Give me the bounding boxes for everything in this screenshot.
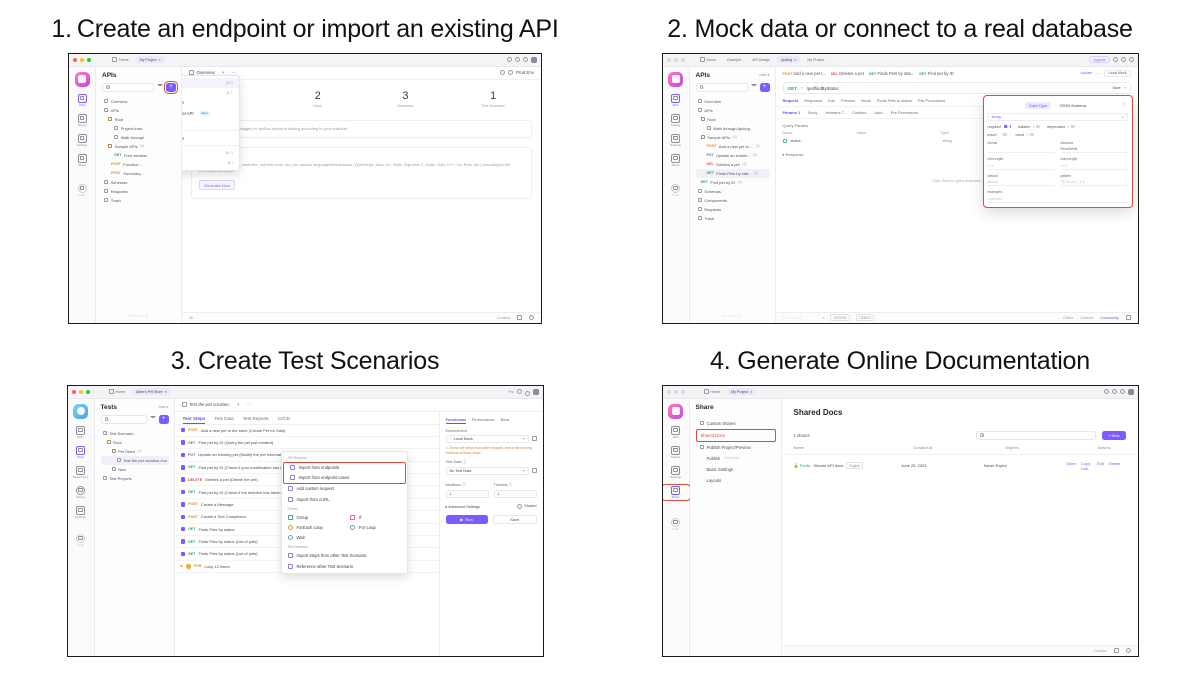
p2-body: APIs Testing Settings Share Invite APIs … [663,67,1138,323]
p1-status-right: Cookies [497,315,534,320]
close-icon[interactable]: × [1123,101,1125,106]
online-status[interactable]: Online [1063,316,1073,320]
trash-icon [698,216,702,220]
menu-marked-group: Import from endpoints Import from endpoi… [283,462,406,484]
testdata-select[interactable]: No Test Data▾ [446,467,529,476]
tree-item-components[interactable]: Components· [696,196,770,205]
examples-input[interactable]: examples [988,196,1128,203]
default-input[interactable]: default [988,179,1055,186]
panel-4-number: 4. [710,347,730,375]
behavior-select[interactable]: Read/Write [1061,146,1128,153]
tab-request[interactable]: Request [783,98,799,103]
toggle-deprecated[interactable]: deprecated [1047,125,1075,129]
menu-item-if[interactable]: If [344,512,407,522]
community-button[interactable]: Community [1100,316,1118,320]
req-tab-finds-pets[interactable]: GET Finds Pets by stat... [869,71,914,76]
tree-item-project-intro[interactable]: Project-intro [102,124,176,133]
tree-item-apis[interactable]: APIs· [102,106,176,115]
tree-item-sample-apis[interactable]: Sample APIs(4) [696,133,770,142]
tree-item-function[interactable]: POSTFunction ... [102,160,176,169]
expires: Never Expire [984,463,1067,468]
rail-item-history[interactable]: History [68,486,94,499]
tab-performance[interactable]: Performance [472,417,495,425]
menu-item-import-steps[interactable]: Import steps from other Test Scenario [282,551,407,561]
sync-icon[interactable] [507,57,512,62]
bell-icon[interactable] [1129,57,1134,62]
overview-icon [698,99,702,103]
p1-statusbar: 4K Cookies [182,312,541,323]
home-icon [700,57,705,62]
menu-item-import-curl[interactable]: Import cURL ⌘ I [182,158,239,168]
generate-now-button[interactable]: Generate Now [199,180,235,190]
rail-item-settings[interactable]: Settings [69,134,95,147]
filter-icon[interactable] [751,84,757,90]
local-mock-selector[interactable]: Local Mock [1104,70,1130,78]
tree-item-add-pet[interactable]: POSTAdd a new pet to ...(1) [696,142,770,151]
request-icon [104,189,108,193]
step-icon [181,453,186,458]
tab-json-schema[interactable]: JSON Schema [1055,102,1089,109]
panel-4-screenshot: Home My Project× APIs Testing Settings S… [662,385,1139,657]
rail-item-share-docs[interactable]: Share Docs [68,466,94,479]
home-icon [112,57,117,62]
publish-icon [700,445,704,449]
iterations-input[interactable]: 1 [446,490,489,498]
add-tab-button[interactable]: + [237,402,240,407]
more-button[interactable]: ··· [1096,71,1100,76]
window-maximize-dot[interactable] [87,58,91,62]
subtab-pre-processors[interactable]: Pre Processors [891,110,918,115]
notification-icon[interactable] [517,315,522,320]
rail-item-apis[interactable]: APIs [663,94,689,107]
url-input[interactable]: /pet/findByStatus [807,86,839,91]
tab-functional[interactable]: Functional [446,417,466,425]
debug-mode-button[interactable]: DEBUG [856,314,875,321]
collapse-button[interactable]: « [822,316,824,320]
req-tab-delete-pet[interactable]: DEL Deletes a pet [831,71,864,76]
beta-badge: Beta [200,111,210,116]
search-icon [106,85,110,89]
menu-item-add-custom-request[interactable]: Add custom request [282,484,407,494]
sidebar-item-publish-project[interactable]: Publish Project/Preview [696,442,776,453]
p2-url-bar: GET ▾ /pet/findByStatus Save ▾ [783,82,1131,94]
branch-selector[interactable]: main ▾ [158,405,168,409]
window-minimize-dot[interactable] [80,58,84,62]
table-row[interactable]: 🔓 Public Shared API docs English June 25… [782,455,1138,477]
p4-project-tab[interactable]: My Project× [727,388,756,395]
gear-icon[interactable] [1121,57,1126,62]
menu-item-group[interactable]: Group [282,512,345,522]
design-mode-button[interactable]: DESIGN [830,314,849,321]
home-icon [704,389,709,394]
p3-store-tab[interactable]: Allen's Pet Store× [132,388,171,395]
tree-item-test-scenario[interactable]: Test Scenario· [101,429,169,438]
menu-item-new-schema[interactable]: New Schema [182,118,239,128]
trash-icon [104,198,108,202]
minlength-input[interactable]: >= 0 [988,163,1055,170]
share-icon [671,154,680,163]
save-button[interactable]: Save [1112,86,1120,90]
close-icon[interactable]: × [794,58,796,62]
bell-icon[interactable] [523,57,528,62]
menu-item-import-from-endpoints[interactable]: Import from endpoints [284,463,405,473]
p2-statusbar: APIDOG « DESIGN DEBUG Online Cookies Com… [776,312,1138,323]
rail-item-testing[interactable]: Testing [663,446,689,459]
p1-rail: APIs Testing Settings Share [69,67,96,323]
tab-cicd[interactable]: CI/CD [278,416,291,421]
window-close-dot[interactable] [73,58,77,62]
apis-icon [671,94,680,103]
tab-test-data[interactable]: Test Data [214,416,233,421]
rail-item-invite[interactable]: Invite [69,184,95,197]
p3-home-tab[interactable]: Home [105,388,130,396]
step-icon [181,465,186,470]
branch-selector[interactable]: main ▾ [759,73,769,77]
p4-toolbar: 1 shares + New [782,417,1138,440]
p4-rail: APIs Testing Settings Share Invite [663,399,690,656]
request-icon [698,207,702,211]
sync-icon[interactable] [1113,57,1118,62]
tree-item-walk-through-apidog[interactable]: Walk through Apidog [696,124,770,133]
menu-item-wait[interactable]: Wait [282,533,407,543]
app-logo [73,404,88,419]
rail-item-apis[interactable]: APIs [69,94,95,107]
advanced-settings-toggle[interactable]: ▸ Advanced Settings [446,504,480,509]
folder-icon [107,440,111,444]
sidebar-item-publish[interactable]: PublishPublished [696,453,776,464]
tree-item-requests[interactable]: Requests· [102,187,176,196]
filter-icon[interactable] [150,416,156,422]
tab-info[interactable]: Info [828,98,835,103]
search-icon [105,417,109,421]
p1-project-tab[interactable]: My Project × [136,56,165,63]
subtab-params[interactable]: Params 1 [783,110,801,115]
menu-item-import[interactable]: Import ⌘ O [182,148,239,158]
menu-item-import-from-curl[interactable]: Import from cURL [282,494,407,504]
menu-item-new-api[interactable]: New API ⌘ N [182,78,239,88]
p2-titlebar-actions: Upgrade [1089,56,1133,63]
filter-icon[interactable] [157,84,163,90]
p1-new-menu: New API ⌘ N New Request ⌘ T New Markdown [182,75,240,172]
invite-icon [671,184,680,193]
panel-2-heading: Mock data or connect to a real database [694,15,1132,43]
menu-item-new-request[interactable]: New Request ⌘ T [182,88,239,98]
language-tag: English [846,462,862,469]
tree-item-apis[interactable]: APIs· [696,106,770,115]
p2-tab-example[interactable]: Example [723,56,745,63]
tree-item-new[interactable]: New [101,465,169,474]
p3-sidebar: Tests main ▾ + Test Scenario· Root Pet S… [95,399,175,656]
p3-body: APIs Tests Share Docs History Settings I… [68,399,543,656]
panel-3-heading: Create Test Scenarios [198,347,439,375]
endpoint-cases-icon [290,475,295,480]
pro-badge[interactable]: Pro [509,390,514,394]
field-behavior: behaviorRead/Write [1061,141,1128,154]
menu-item-new-api-folder[interactable]: New API Folder [182,133,239,143]
help-icon[interactable] [1126,648,1131,653]
p3-titlebar: Home Allen's Pet Store× Pro 20 [68,386,543,399]
menu-item-new-websocket-api[interactable]: New WebSocket API Beta [182,108,239,118]
p1-sync-card: API data in OpenAPI(Swagger) or apiDoc f… [191,120,532,138]
http-method[interactable]: GET [788,86,797,91]
new-share-button[interactable]: + New [1102,431,1125,440]
tree-item-free-weather[interactable]: GETFree weather [102,151,176,160]
step-icon [181,539,186,544]
p1-main: Overview + ··· Prod Env 2Cases 2Docs 3Sc… [182,67,541,323]
tab-test-reports[interactable]: Test Reports [243,416,269,421]
cookies-button[interactable]: Cookies [497,316,510,320]
tree-item-requests[interactable]: Requests· [696,205,770,214]
menu-group-others: Others [282,504,407,512]
testdata-label: Test Data ⓘ [446,460,537,465]
rail-item-invite[interactable]: Invite [68,534,94,547]
step-icon [181,515,186,520]
rail-item-tests[interactable]: Tests [68,446,94,459]
avatar [500,70,505,75]
schema-icon [104,180,108,184]
tree-item-test-pet-creation[interactable]: Test the pet creation,/mo [101,456,169,465]
sidebar-item-shared-docs[interactable]: Shared Docs [696,429,776,442]
gear-icon[interactable] [515,57,520,62]
toggle-const[interactable]: const [1016,133,1035,137]
step-icon [181,527,186,532]
delete-action[interactable]: Delete [1109,461,1121,471]
popup-tabs: Data Type JSON Schema × [988,100,1128,113]
panel-1-title: 1.Create an endpoint or import an existi… [0,16,610,44]
notification-icon[interactable] [1126,315,1131,320]
panel-3-screenshot: Home Allen's Pet Store× Pro 20 APIs Test [67,385,544,657]
notification-icon[interactable] [1114,648,1119,653]
search-input[interactable] [696,83,748,92]
sync-icon[interactable] [517,389,522,394]
visibility-badge: 🔓 Public [794,463,811,468]
menu-item-reference-scenario[interactable]: Reference other Test Scenario [282,561,407,571]
help-icon[interactable] [529,315,534,320]
toggle-enum[interactable]: enum [988,133,1007,137]
menu-item-new-markdown[interactable]: New Markdown [182,98,239,108]
p2-tab-api-design[interactable]: API Design [748,56,774,63]
p1-home-tab[interactable]: Home [108,56,133,64]
testdata-manage-icon[interactable] [532,468,537,473]
panel-2-number: 2. [667,15,687,43]
close-icon[interactable]: × [159,58,161,62]
toggle-required[interactable]: required [988,125,1011,129]
slide-root: 1.Create an endpoint or import an existi… [0,0,1200,675]
p2-request-tabs: POST Add a new pet t... DEL Deletes a pe… [776,67,1138,81]
tree-item-overview[interactable]: Overview [696,97,770,106]
more-button[interactable]: ··· [246,402,250,407]
tab-finds-pets[interactable]: Finds Pets to status [877,98,912,103]
panel-3-title: 3. Create Test Scenarios [0,348,610,376]
tree-item-test-reports[interactable]: Test Reports [101,474,169,483]
tab-pre-processors[interactable]: Pre Processors [918,98,945,103]
menu-item-foreach-loop[interactable]: ForEach Loop [282,522,345,532]
tree-item-summary[interactable]: POSTSummary... [102,169,176,178]
p1-env-group: Prod Env [500,70,534,75]
p2-sidebar: APIs main ▾ + Overview APIs· Root Walk t… [690,67,776,323]
step-icon [181,552,186,557]
toggle-nullable[interactable]: nullable [1018,125,1040,129]
rail-item-share[interactable]: Share [663,486,689,499]
loop-icon [186,564,191,569]
shared-checkbox[interactable]: Shared [517,504,536,509]
tree-item-schemas[interactable]: Schemas· [696,187,770,196]
tab-test-steps[interactable]: Test Steps [183,416,206,421]
p2-rail: APIs Testing Settings Share Invite [663,67,690,323]
req-tab-add-pet[interactable]: POST Add a new pet t... [783,71,826,76]
sidebar-item-layouts[interactable]: Layouts [696,475,776,486]
testing-icon [671,446,680,455]
settings-icon [78,134,87,143]
tree-item-sample-apis[interactable]: Sample APIs(3) [102,142,176,151]
sync-icon[interactable] [1104,389,1109,394]
settings-icon [671,466,680,475]
rail-item-share[interactable]: Share [663,154,689,167]
tree-item-finds-pets-by-status[interactable]: GETFinds Pets by stat...(2) [696,169,770,178]
run-save-row: ▶ Run Save [446,515,537,524]
p2-tab-my-project[interactable]: My Project [803,56,828,63]
subtab-auth[interactable]: Auth [874,110,882,115]
maxlength-input[interactable]: <= 0 [1061,163,1128,170]
popup-row-format: format behaviorRead/Write [988,141,1128,154]
popup-toggles-row-2: enum const [988,133,1128,137]
rail-item-settings[interactable]: Settings [663,134,689,147]
run-button[interactable]: ▶ Run [446,515,488,524]
tree-item-overview[interactable]: Overview [102,97,176,106]
subtab-body[interactable]: Body [808,110,817,115]
subtab-headers[interactable]: Headers 7 [825,110,843,115]
tab-preview[interactable]: Preview [841,98,855,103]
tree-item-trash[interactable]: Trash [102,196,176,205]
rail-item-share[interactable]: Share [69,154,95,167]
search-input[interactable] [102,83,154,92]
type-selector[interactable]: string▾ [988,113,1128,121]
tree-item-walk-through[interactable]: Walk through [102,133,176,142]
settings-icon [76,506,85,515]
p3-main-toolbar: Test the pet creation, + ··· [175,399,543,412]
rail-item-testing[interactable]: Testing [663,114,689,127]
apis-icon [698,108,702,112]
sidebar-item-basic-settings[interactable]: Basic Settings [696,464,776,475]
environment-selector[interactable]: Prod Env [516,70,534,75]
rail-item-settings[interactable]: Settings [68,506,94,519]
tree-item-update-pet[interactable]: PUTUpdate an existin...(2) [696,151,770,160]
panel-4-title: 4. Generate Online Documentation [600,348,1200,376]
new-item-button[interactable]: + [159,415,169,424]
avatar[interactable] [531,57,537,63]
tree-item-pet-store[interactable]: Pet Store(1) [101,447,169,456]
tree-item-root[interactable]: Root [102,115,176,124]
p2-tab-apidog[interactable]: Apidog× [777,56,800,63]
p2-titlebar: Home Example API Design Apidog× My Proje… [663,54,1138,67]
tree-item-find-pet-by-id[interactable]: GETFind pet by ID(4) [696,178,770,187]
close-icon[interactable]: × [750,390,752,394]
avatar[interactable] [533,389,539,395]
testing-icon [671,114,680,123]
update-button[interactable]: Update [1081,71,1093,75]
panel-2-screenshot: Home Example API Design Apidog× My Proje… [662,53,1139,324]
panel-2: 2. Mock data or connect to a real databa… [600,16,1200,324]
rail-item-settings[interactable]: Settings [663,466,689,479]
edit-action[interactable]: Edit [1097,461,1104,471]
apis-icon [78,94,87,103]
p2-search-row: + [696,83,770,92]
step-icon [181,477,186,482]
tree-item-root[interactable]: Root [101,438,169,447]
tree-item-delete-pet[interactable]: DELDeletes a pet(1) [696,160,770,169]
open-action[interactable]: Open [1066,461,1076,471]
folder-icon [108,117,112,121]
apis-icon [104,108,108,112]
cookies-button[interactable]: Cookies [1094,649,1107,653]
copy-link-action[interactable]: Copy Link [1081,461,1092,471]
menu-item-import-from-endpoint-cases[interactable]: Import from endpoint cases [284,473,405,483]
tab-beta[interactable]: Beta [501,417,509,425]
format-input[interactable] [988,146,1055,153]
save-button[interactable]: Save [493,515,537,524]
folder-icon [701,135,705,139]
p4-main: Shared Docs 1 shares + New Name Created … [782,399,1138,656]
tree-item-root[interactable]: Root [696,115,770,124]
panel-3: 3. Create Test Scenarios Home Allen's Pe… [0,348,610,657]
tree-item-trash[interactable]: Trash [696,214,770,223]
threads-input[interactable]: 1 [494,490,537,498]
tree-item-schemas[interactable]: Schemas· [102,178,176,187]
req-tab-find-pet-id[interactable]: GET Find pet by ID [919,71,954,76]
rail-item-apis[interactable]: APIs [663,426,689,439]
new-item-button[interactable]: + [166,83,176,92]
tab-data-type[interactable]: Data Type [1025,102,1051,109]
checkbox[interactable] [783,139,787,143]
pattern-input[interactable]: ^[0-9a-zA-Z_]+$ [1061,179,1128,186]
steps-warning: ⚠ These are steps from other projects, c… [446,446,537,456]
p3-config-panel: Functional Performance Beta Environment … [439,412,543,656]
environment-label: Environment [446,429,537,433]
panel-3-number: 3. [171,347,191,375]
new-item-button[interactable]: + [760,83,770,92]
p3-sidebar-title: Tests main ▾ [101,404,169,411]
p4-sidebar-title: Share [696,404,776,411]
rail-item-apis[interactable]: APIs [68,426,94,439]
menu-item-for-loop[interactable]: For Loop [344,522,407,532]
step-icon [181,490,186,495]
cookies-button[interactable]: Cookies [1080,316,1093,320]
tab-response[interactable]: Response [804,98,822,103]
folder-icon [112,449,116,453]
gear-icon[interactable] [1112,389,1117,394]
environment-select[interactable]: ::Local Mock▾ [446,435,529,444]
p2-home-tab[interactable]: Home [696,56,721,64]
rail-item-testing[interactable]: Testing [69,114,95,127]
sidebar-item-custom-shares[interactable]: Custom Shares [696,418,776,429]
environment-manage-icon[interactable] [532,436,537,441]
rail-item-invite[interactable]: Invite [663,518,689,531]
p2-main: POST Add a new pet t... DEL Deletes a pe… [776,67,1138,323]
share-docs-icon [76,466,85,475]
p4-home-tab[interactable]: Home [700,388,725,396]
subtab-cookies[interactable]: Cookies [852,110,866,115]
upgrade-button[interactable]: Upgrade [1089,56,1109,63]
avatar[interactable] [1128,389,1134,395]
p2-datatype-popup: Data Type JSON Schema × string▾ required… [983,95,1133,208]
tab-mock[interactable]: Mock [861,98,871,103]
rail-item-invite[interactable]: Invite [663,184,689,197]
close-icon[interactable]: × [165,390,167,394]
panel-1-screenshot: Home My Project × AP [68,53,542,324]
search-input[interactable] [101,415,147,424]
bell-icon[interactable] [1120,389,1125,394]
search-input[interactable] [976,431,1096,440]
